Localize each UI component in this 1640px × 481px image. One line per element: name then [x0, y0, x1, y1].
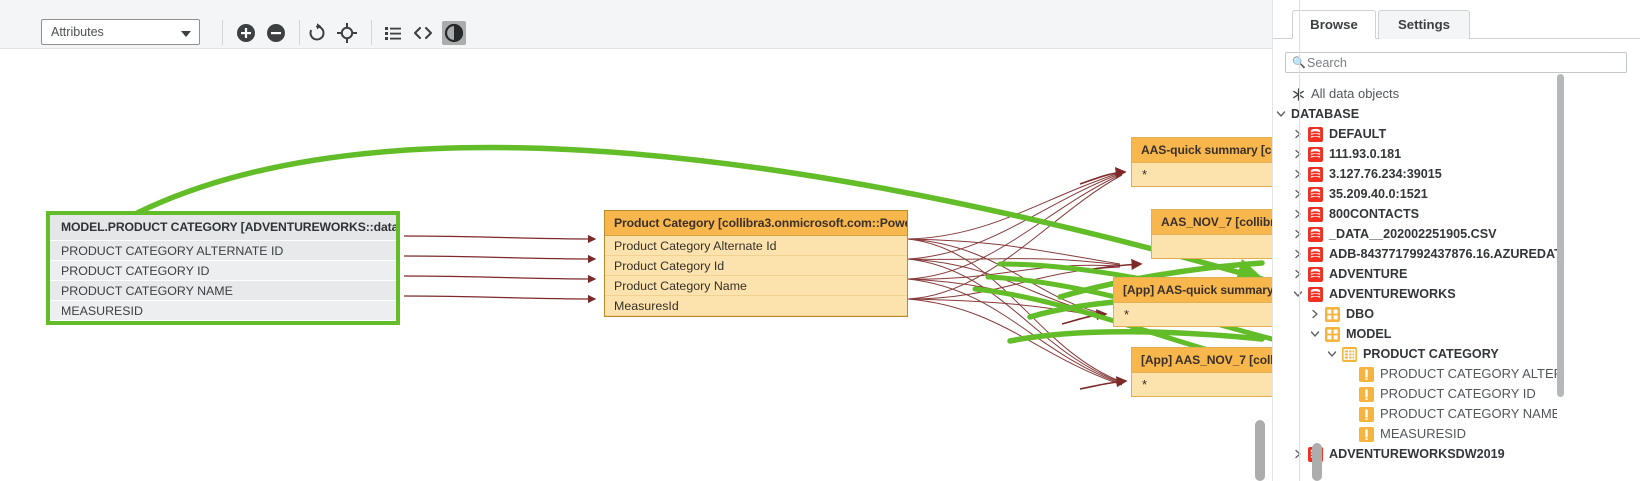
tree-item-database[interactable]: DATABASE — [1273, 104, 1558, 124]
diagram-vertical-scrollbar[interactable] — [1255, 420, 1265, 481]
tree-item-product-category[interactable]: PRODUCT CATEGORY — [1273, 344, 1558, 364]
tree-item-dbo[interactable]: DBO — [1273, 304, 1558, 324]
chevron-right-icon[interactable] — [1292, 267, 1304, 281]
column-icon — [1359, 367, 1374, 382]
database-icon — [1308, 167, 1323, 182]
tree-item-adventureworks[interactable]: ADVENTUREWORKS — [1273, 284, 1558, 304]
node-title: [App] AAS_NOV_7 [collibr — [1132, 348, 1272, 373]
tree-item-800contacts[interactable]: 800CONTACTS — [1273, 204, 1558, 224]
zoom-out-icon[interactable] — [264, 21, 288, 45]
node-row[interactable]: * — [1132, 163, 1272, 186]
code-icon[interactable] — [411, 21, 435, 45]
tree-item-label: ADB-8437717992437876.16.AZUREDATABRICKS.… — [1329, 245, 1558, 263]
database-icon — [1308, 247, 1323, 262]
panel-tabs: Browse Settings — [1273, 0, 1640, 39]
node-row[interactable]: PRODUCT CATEGORY NAME — [50, 281, 396, 301]
tree-item-label: PRODUCT CATEGORY ALTERNATE ID — [1380, 365, 1558, 383]
database-icon — [1308, 127, 1323, 142]
node-row[interactable]: Product Category Id — [605, 256, 907, 276]
tree-item-label: 3.127.76.234:39015 — [1329, 165, 1442, 183]
chevron-right-icon[interactable] — [1292, 167, 1304, 181]
chevron-down-icon — [181, 31, 191, 37]
node-title: AAS_NOV_7 [collibra3 — [1152, 210, 1272, 235]
toolbar-divider — [371, 20, 372, 45]
lineage-diagram-app: Attributes — [0, 0, 1640, 481]
schema-icon — [1325, 307, 1340, 322]
tree-item-label: MEASURESID — [1380, 425, 1466, 443]
tree-item-label: PRODUCT CATEGORY ID — [1380, 385, 1536, 403]
diagram-canvas[interactable]: MODEL.PRODUCT CATEGORY [ADVENTUREWORKS::… — [0, 49, 1272, 481]
node-row[interactable]: * — [1114, 303, 1272, 326]
data-object-tree[interactable]: All data objectsDATABASEDEFAULT111.93.0.… — [1273, 84, 1640, 481]
tree-item-35-209-40-0-1521[interactable]: 35.209.40.0:1521 — [1273, 184, 1558, 204]
refresh-icon[interactable] — [305, 21, 329, 45]
diagram-toolbar: Attributes — [0, 0, 1272, 49]
diagram-node-target[interactable]: [App] AAS-quick summary [c * — [1113, 277, 1272, 327]
tree-horizontal-scrollbar[interactable] — [1312, 443, 1322, 481]
chevron-right-icon[interactable] — [1292, 227, 1304, 241]
node-row[interactable]: Product Category Alternate Id — [605, 236, 907, 256]
tree-item-label: _DATA__202002251905.CSV — [1329, 225, 1497, 243]
chevron-right-icon[interactable] — [1292, 207, 1304, 221]
chevron-right-icon[interactable] — [1292, 127, 1304, 141]
tree-item-adb-8437717992437876-16-azuredatabricks-net[interactable]: ADB-8437717992437876.16.AZUREDATABRICKS.… — [1273, 244, 1558, 264]
chevron-right-icon[interactable] — [1292, 187, 1304, 201]
tree-item-label: All data objects — [1311, 85, 1399, 103]
diagram-pane: Attributes — [0, 0, 1273, 481]
chevron-down-icon[interactable] — [1275, 107, 1287, 121]
tab-browse[interactable]: Browse — [1292, 10, 1376, 39]
center-target-icon[interactable] — [335, 21, 359, 45]
tree-item-product-category-id[interactable]: PRODUCT CATEGORY ID — [1273, 384, 1558, 404]
node-row[interactable]: PRODUCT CATEGORY ID — [50, 261, 396, 281]
tree-item-label: 35.209.40.0:1521 — [1329, 185, 1428, 203]
contrast-toggle-icon[interactable] — [442, 21, 466, 45]
chevron-right-icon[interactable] — [1292, 147, 1304, 161]
chevron-down-icon[interactable] — [1326, 347, 1338, 361]
chevron-down-icon[interactable] — [1292, 287, 1304, 301]
diagram-node-center[interactable]: Product Category [collibra3.onmicrosoft.… — [604, 210, 908, 317]
database-icon — [1308, 187, 1323, 202]
tab-settings[interactable]: Settings — [1378, 10, 1470, 39]
tree-item-label: ADVENTUREWORKS — [1329, 285, 1456, 303]
panel-divider — [1299, 0, 1300, 481]
tree-item-default[interactable]: DEFAULT — [1273, 124, 1558, 144]
chevron-right-icon[interactable] — [1309, 307, 1321, 321]
node-row[interactable]: PRODUCT CATEGORY ALTERNATE ID — [50, 241, 396, 261]
column-icon — [1359, 407, 1374, 422]
database-icon — [1308, 227, 1323, 242]
database-icon — [1308, 287, 1323, 302]
node-title: MODEL.PRODUCT CATEGORY [ADVENTUREWORKS::… — [50, 215, 396, 241]
tree-item-adventure[interactable]: ADVENTURE — [1273, 264, 1558, 284]
tree-item-label: ADVENTURE — [1329, 265, 1407, 283]
tree-item-all-data-objects[interactable]: All data objects — [1273, 84, 1558, 104]
tree-item-product-category-name[interactable]: PRODUCT CATEGORY NAME — [1273, 404, 1558, 424]
node-title: Product Category [collibra3.onmicrosoft.… — [605, 211, 907, 236]
column-icon — [1359, 427, 1374, 442]
chevron-down-icon[interactable] — [1309, 327, 1321, 341]
tree-item-label: DATABASE — [1291, 105, 1359, 123]
tree-item-label: 800CONTACTS — [1329, 205, 1419, 223]
tree-item-111-93-0-181[interactable]: 111.93.0.181 — [1273, 144, 1558, 164]
tree-item-model[interactable]: MODEL — [1273, 324, 1558, 344]
tree-item-label: PRODUCT CATEGORY NAME — [1380, 405, 1558, 423]
search-input[interactable]: 🔍 Search — [1285, 52, 1627, 73]
tree-item-label: 111.93.0.181 — [1329, 145, 1401, 163]
table-icon — [1342, 347, 1357, 362]
tree-item-label: MODEL — [1346, 325, 1391, 343]
attributes-select[interactable]: Attributes — [41, 19, 200, 45]
node-row[interactable]: MeasuresId — [605, 296, 907, 316]
tree-item-product-category-alternate-id[interactable]: PRODUCT CATEGORY ALTERNATE ID — [1273, 364, 1558, 384]
tree-item-label: DEFAULT — [1329, 125, 1386, 143]
attributes-select-value: Attributes — [51, 25, 104, 39]
node-title: AAS-quick summary [coll — [1132, 138, 1272, 163]
diagram-node-target[interactable]: AAS-quick summary [coll * — [1131, 137, 1272, 187]
node-row[interactable]: Product Category Name — [605, 276, 907, 296]
panel-vertical-scrollbar[interactable] — [1557, 74, 1564, 397]
database-icon — [1308, 147, 1323, 162]
tree-item-label: PRODUCT CATEGORY — [1363, 345, 1499, 363]
database-icon — [1308, 207, 1323, 222]
column-icon — [1359, 387, 1374, 402]
tree-item-measuresid[interactable]: MEASURESID — [1273, 424, 1558, 444]
node-row[interactable]: MEASURESID — [50, 301, 396, 321]
schema-icon — [1325, 327, 1340, 342]
tree-item-label: ADVENTUREWORKSDW2019 — [1329, 445, 1505, 463]
zoom-in-icon[interactable] — [234, 21, 258, 45]
tree-item-data-202002251905-csv[interactable]: _DATA__202002251905.CSV — [1273, 224, 1558, 244]
toolbar-divider — [299, 20, 300, 45]
search-placeholder: Search — [1307, 55, 1347, 72]
toolbar-divider — [222, 20, 223, 45]
tree-item-label: DBO — [1346, 305, 1374, 323]
browse-panel: Browse Settings 🔍 Search All data object… — [1273, 0, 1640, 481]
node-row[interactable]: * — [1132, 373, 1272, 396]
node-row[interactable] — [1152, 235, 1272, 258]
diagram-node-source[interactable]: MODEL.PRODUCT CATEGORY [ADVENTUREWORKS::… — [46, 211, 400, 325]
tree-item-3-127-76-234-39015[interactable]: 3.127.76.234:39015 — [1273, 164, 1558, 184]
diagram-node-target[interactable]: AAS_NOV_7 [collibra3 — [1151, 209, 1272, 259]
node-title: [App] AAS-quick summary [c — [1114, 278, 1272, 303]
chevron-right-icon[interactable] — [1292, 247, 1304, 261]
list-icon[interactable] — [381, 21, 405, 45]
diagram-node-target[interactable]: [App] AAS_NOV_7 [collibr * — [1131, 347, 1272, 397]
chevron-right-icon[interactable] — [1292, 447, 1304, 461]
database-icon — [1308, 267, 1323, 282]
